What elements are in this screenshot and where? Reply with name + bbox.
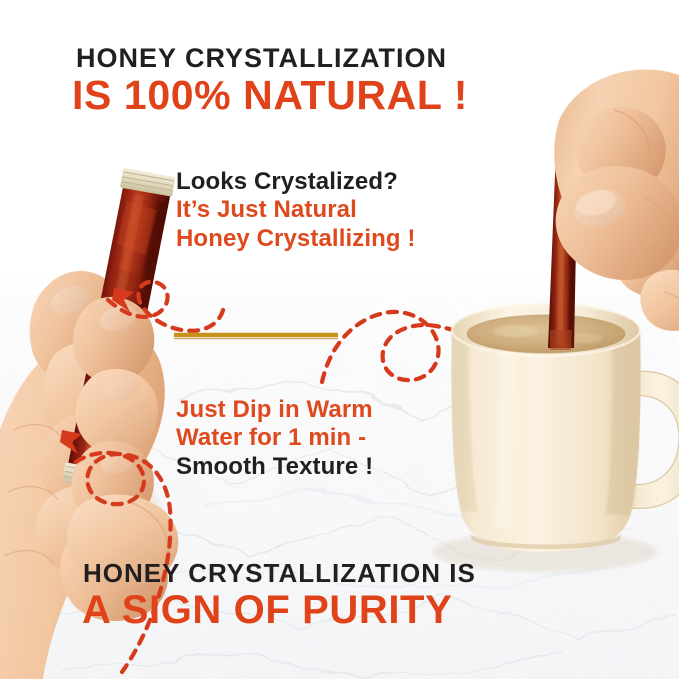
bottom-headline-line1: HONEY CRYSTALLIZATION IS (83, 560, 476, 587)
upper-callout: Looks Crystalized? It’s Just Natural Hon… (176, 170, 415, 251)
mug-and-dipping-hand-group (433, 69, 679, 572)
top-headline-line1: HONEY CRYSTALLIZATION (76, 44, 447, 72)
lower-callout-line3: Smooth Texture ! (176, 455, 373, 479)
bottom-headline-line2: A SIGN OF PURITY (82, 589, 452, 631)
lower-callout-line2: Water for 1 min - (176, 426, 373, 450)
lower-callout-line1: Just Dip in Warm (176, 398, 373, 422)
infographic-canvas: HONEY CRYSTALLIZATION IS 100% NATURAL ! … (0, 0, 679, 679)
upper-callout-line2: It’s Just Natural (176, 198, 415, 222)
gold-divider (174, 335, 338, 339)
upper-callout-line3: Honey Crystallizing ! (176, 227, 415, 251)
lower-callout: Just Dip in Warm Water for 1 min - Smoot… (176, 398, 373, 479)
top-headline-line2: IS 100% NATURAL ! (72, 74, 468, 117)
upper-callout-line1: Looks Crystalized? (176, 170, 415, 194)
